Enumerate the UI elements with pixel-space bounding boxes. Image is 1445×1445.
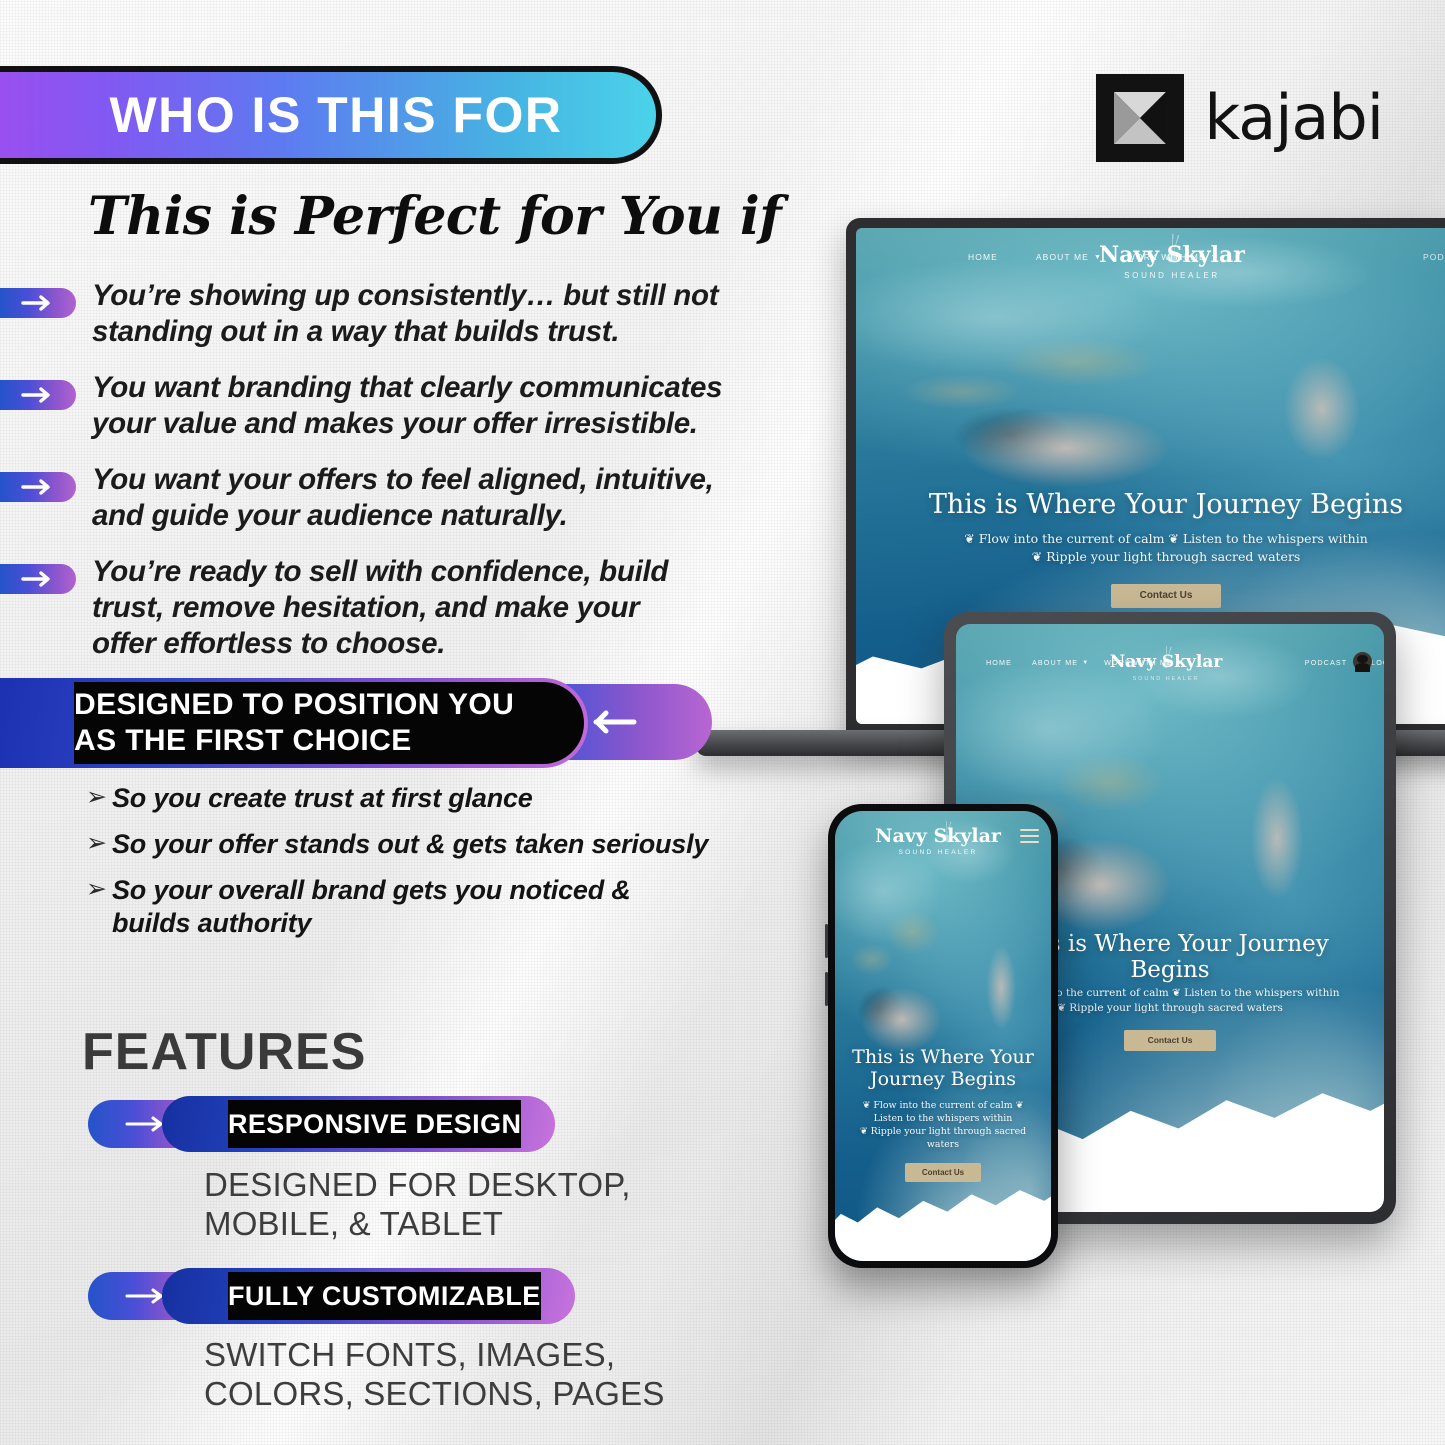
nav-home[interactable]: HOME [986,658,1012,667]
hero-sub-2: Listen to the whispers within [835,1112,1051,1126]
contact-us-button[interactable]: Contact Us [1124,1030,1216,1051]
brand-tagline: SOUND HEALER [853,849,1023,856]
brand-tagline: SOUND HEALER [1084,271,1260,280]
contact-us-button[interactable]: Contact Us [1111,584,1221,608]
hero-title-line-1: This is Where Your [835,1047,1051,1068]
phone-hero: Navy Skylar SOUND HEALER This is Where Y… [835,811,1051,1261]
phone-screen: Navy Skylar SOUND HEALER This is Where Y… [835,811,1051,1261]
nav-podcast[interactable]: PODC [1423,252,1445,262]
nav-podcast[interactable]: PODCAST [1305,658,1347,667]
hero-sub-1: ❦ Flow into the current of calm ❦ Listen… [856,530,1445,548]
brand-name: Navy Skylar [1096,654,1236,671]
phone-volume-up-button[interactable] [825,924,828,958]
hero-title-line-2: Journey Begins [835,1069,1051,1090]
hero-sub-1: ❦ Flow into the current of calm ❦ [835,1099,1051,1113]
contact-us-button[interactable]: Contact Us [905,1163,981,1182]
device-mockups: HOME ABOUT ME ▼ WORK WITH ME ▼ PODC Navy… [0,0,1445,1445]
hero-sub-2: ❦ Ripple your light through sacred water… [856,548,1445,566]
avatar[interactable] [1353,652,1372,671]
chevron-down-icon: ▼ [1082,660,1088,666]
nav-home[interactable]: HOME [968,252,998,262]
brand-name: Navy Skylar [1084,244,1260,266]
hero-sub-4: waters [835,1138,1051,1152]
nav-about-me[interactable]: ABOUT ME [1036,252,1089,262]
brand-name: Navy Skylar [853,827,1023,846]
phone-mockup: Navy Skylar SOUND HEALER This is Where Y… [828,804,1058,1268]
hero-sub-3: ❦ Ripple your light through sacred [835,1125,1051,1139]
hamburger-menu-icon[interactable] [1020,829,1039,843]
phone-volume-down-button[interactable] [825,972,828,1006]
brand-tagline: SOUND HEALER [1096,676,1236,682]
hero-title: This is Where Your Journey Begins [856,490,1445,520]
nav-about-me[interactable]: ABOUT ME [1032,658,1078,667]
